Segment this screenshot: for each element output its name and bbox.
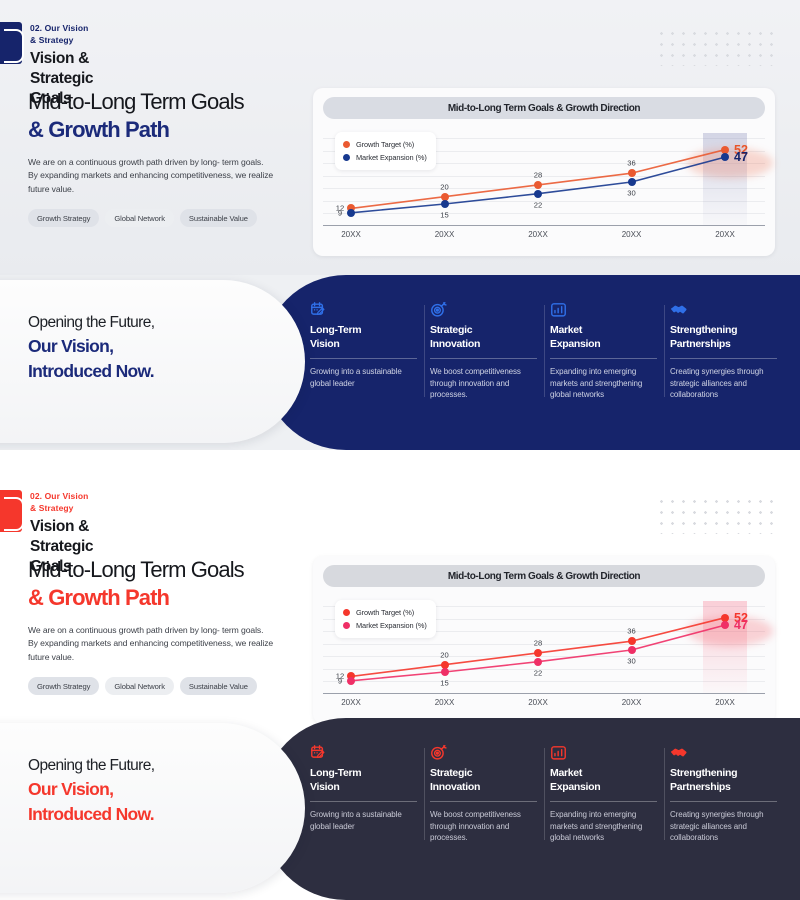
vision-headline-line1: Opening the Future, <box>28 312 154 334</box>
feature-card[interactable]: Long-Term VisionGrowing into a sustainab… <box>310 301 430 401</box>
feature-card-description: Expanding into emerging markets and stre… <box>550 809 657 844</box>
vision-headline-line3: Introduced Now. <box>28 359 154 384</box>
slide-navy: 02. Our Vision & Strategy Vision & Strat… <box>0 0 800 450</box>
header-accent-notch <box>4 497 24 531</box>
chart-point-label: 20 <box>440 182 448 191</box>
legend-label: Market Expansion (%) <box>356 153 427 162</box>
chart-data-point <box>347 209 355 217</box>
chart-x-label: 20XX <box>528 230 548 239</box>
vision-headline-group: Opening the Future, Our Vision, Introduc… <box>28 312 154 384</box>
chart-data-point <box>441 668 449 676</box>
chart-x-label: 20XX <box>435 230 455 239</box>
slide-navy-top-area: 02. Our Vision & Strategy Vision & Strat… <box>0 0 800 275</box>
chart-title: Mid-to-Long Term Goals & Growth Directio… <box>448 571 640 582</box>
feature-card-divider <box>550 801 657 802</box>
feature-card-list-navy: Long-Term VisionGrowing into a sustainab… <box>310 301 790 401</box>
header-kicker: 02. Our Vision & Strategy <box>30 490 93 514</box>
chart-x-label: 20XX <box>715 698 735 707</box>
dot-pattern-decoration <box>656 28 780 66</box>
tag-chip-sustainable-value[interactable]: Sustainable Value <box>180 677 257 695</box>
feature-card-title: Strategic Innovation <box>430 767 537 794</box>
calendar-edit-icon <box>310 744 417 761</box>
chart-data-point <box>441 200 449 208</box>
intro-column-navy: Mid-to-Long Term Goals & Growth Path We … <box>28 88 296 227</box>
feature-card-divider <box>670 358 777 359</box>
chart-x-tick-labels: 20XX20XX20XX20XX20XX <box>323 698 765 712</box>
intro-heading-line1: Mid-to-Long Term Goals <box>28 88 296 115</box>
chart-x-label: 20XX <box>622 698 642 707</box>
feature-card-description: Creating synergies through strategic all… <box>670 809 777 844</box>
chart-data-point <box>534 658 542 666</box>
feature-card-divider <box>550 358 657 359</box>
vision-panel-navy: Opening the Future, Our Vision, Introduc… <box>0 275 800 450</box>
feature-card-title: Market Expansion <box>550 324 657 351</box>
slide-red: 02. Our Vision & Strategy Vision & Strat… <box>0 468 800 900</box>
legend-dot-icon <box>343 154 350 161</box>
feature-card-divider <box>310 801 417 802</box>
chart-x-label: 20XX <box>341 698 361 707</box>
legend-dot-icon <box>343 141 350 148</box>
feature-card-title: Market Expansion <box>550 767 657 794</box>
feature-card[interactable]: Strengthening PartnershipsCreating syner… <box>670 744 790 844</box>
chart-data-point <box>628 637 636 645</box>
chart-x-label: 20XX <box>622 230 642 239</box>
target-icon <box>430 744 537 761</box>
chart-data-point <box>721 621 729 629</box>
feature-card[interactable]: Long-Term VisionGrowing into a sustainab… <box>310 744 430 844</box>
poster-page: 02. Our Vision & Strategy Vision & Strat… <box>0 0 800 900</box>
chart-point-label: 30 <box>627 189 635 198</box>
chart-end-label: 47 <box>734 150 748 164</box>
chart-point-label: 9 <box>338 676 342 685</box>
intro-body-text: We are on a continuous growth path drive… <box>28 156 296 196</box>
tag-chip-growth-strategy[interactable]: Growth Strategy <box>28 677 99 695</box>
feature-card[interactable]: Market ExpansionExpanding into emerging … <box>550 744 670 844</box>
chart-plot-area: 20XX20XX20XX20XX20XX Growth Target (%) M… <box>323 592 765 714</box>
chart-point-label: 28 <box>534 638 542 647</box>
vision-headline-line1: Opening the Future, <box>28 755 154 777</box>
header-accent-bar <box>0 22 22 64</box>
chart-point-label: 22 <box>534 668 542 677</box>
feature-card-title: Strengthening Partnerships <box>670 767 777 794</box>
chart-point-label: 15 <box>440 679 448 688</box>
feature-card-title: Long-Term Vision <box>310 767 417 794</box>
feature-card[interactable]: Strategic InnovationWe boost competitive… <box>430 744 550 844</box>
intro-column-red: Mid-to-Long Term Goals & Growth Path We … <box>28 556 296 695</box>
vision-headline-line2: Our Vision, <box>28 334 154 359</box>
chart-point-label: 15 <box>440 211 448 220</box>
target-icon <box>430 301 537 318</box>
legend-label: Market Expansion (%) <box>356 621 427 630</box>
calendar-edit-icon <box>310 301 417 318</box>
feature-card[interactable]: Market ExpansionExpanding into emerging … <box>550 301 670 401</box>
vision-white-panel: Opening the Future, Our Vision, Introduc… <box>0 723 305 893</box>
chart-plot-area: 20XX20XX20XX20XX20XX Growth Target (%) M… <box>323 124 765 246</box>
chart-x-tick-labels: 20XX20XX20XX20XX20XX <box>323 230 765 244</box>
bar-chart-icon <box>550 744 657 761</box>
chart-point-label: 30 <box>627 657 635 666</box>
chart-x-axis <box>323 693 765 694</box>
chart-point-label: 36 <box>627 159 635 168</box>
legend-item-growth-target: Growth Target (%) <box>343 606 427 619</box>
vision-headline-line2: Our Vision, <box>28 777 154 802</box>
chart-point-label: 22 <box>534 200 542 209</box>
header-accent-bar <box>0 490 22 532</box>
chart-data-point <box>721 153 729 161</box>
chart-data-point <box>628 178 636 186</box>
tag-chip-sustainable-value[interactable]: Sustainable Value <box>180 209 257 227</box>
legend-dot-icon <box>343 609 350 616</box>
chart-end-label: 47 <box>734 618 748 632</box>
vision-panel-red: Opening the Future, Our Vision, Introduc… <box>0 718 800 900</box>
feature-card-divider <box>310 358 417 359</box>
feature-card[interactable]: Strengthening PartnershipsCreating syner… <box>670 301 790 401</box>
chart-card-navy: Mid-to-Long Term Goals & Growth Directio… <box>313 88 775 256</box>
tag-chip-growth-strategy[interactable]: Growth Strategy <box>28 209 99 227</box>
feature-card-list-red: Long-Term VisionGrowing into a sustainab… <box>310 744 790 844</box>
chart-point-label: 20 <box>440 650 448 659</box>
vision-white-panel: Opening the Future, Our Vision, Introduc… <box>0 280 305 443</box>
chart-point-label: 36 <box>627 627 635 636</box>
chart-point-label: 28 <box>534 170 542 179</box>
tag-chip-global-network[interactable]: Global Network <box>105 677 174 695</box>
tag-chip-list: Growth Strategy Global Network Sustainab… <box>28 209 296 227</box>
chart-x-label: 20XX <box>341 230 361 239</box>
feature-card-description: Expanding into emerging markets and stre… <box>550 366 657 401</box>
feature-card-divider <box>430 358 537 359</box>
feature-card-description: Growing into a sustainable global leader <box>310 366 417 389</box>
vision-headline-line3: Introduced Now. <box>28 802 154 827</box>
feature-card-title: Strengthening Partnerships <box>670 324 777 351</box>
feature-card-description: We boost competitiveness through innovat… <box>430 366 537 401</box>
bar-chart-icon <box>550 301 657 318</box>
chart-x-axis <box>323 225 765 226</box>
vision-headline-group: Opening the Future, Our Vision, Introduc… <box>28 755 154 827</box>
feature-card-description: Growing into a sustainable global leader <box>310 809 417 832</box>
legend-item-growth-target: Growth Target (%) <box>343 138 427 151</box>
chart-data-point <box>534 190 542 198</box>
chart-card-red: Mid-to-Long Term Goals & Growth Directio… <box>313 556 775 724</box>
chart-data-point <box>628 646 636 654</box>
legend-label: Growth Target (%) <box>356 140 414 149</box>
chart-title-banner: Mid-to-Long Term Goals & Growth Directio… <box>323 565 765 587</box>
chart-x-label: 20XX <box>715 230 735 239</box>
chart-point-label: 9 <box>338 208 342 217</box>
chart-x-label: 20XX <box>528 698 548 707</box>
chart-title-banner: Mid-to-Long Term Goals & Growth Directio… <box>323 97 765 119</box>
header-kicker: 02. Our Vision & Strategy <box>30 22 93 46</box>
chart-title: Mid-to-Long Term Goals & Growth Directio… <box>448 103 640 114</box>
intro-heading-line2: & Growth Path <box>28 583 296 612</box>
tag-chip-list: Growth Strategy Global Network Sustainab… <box>28 677 296 695</box>
handshake-icon <box>670 301 777 318</box>
feature-card-title: Long-Term Vision <box>310 324 417 351</box>
tag-chip-global-network[interactable]: Global Network <box>105 209 174 227</box>
feature-card-divider <box>430 801 537 802</box>
chart-data-point <box>628 169 636 177</box>
feature-card-description: We boost competitiveness through innovat… <box>430 809 537 844</box>
legend-item-market-expansion: Market Expansion (%) <box>343 619 427 632</box>
feature-card-description: Creating synergies through strategic all… <box>670 366 777 401</box>
chart-legend: Growth Target (%) Market Expansion (%) <box>335 132 436 170</box>
chart-data-point <box>347 677 355 685</box>
legend-item-market-expansion: Market Expansion (%) <box>343 151 427 164</box>
header-accent-notch <box>4 29 24 63</box>
slide-red-top-area: 02. Our Vision & Strategy Vision & Strat… <box>0 468 800 718</box>
dot-pattern-decoration <box>656 496 780 534</box>
chart-legend: Growth Target (%) Market Expansion (%) <box>335 600 436 638</box>
chart-data-point <box>534 649 542 657</box>
intro-heading-line2: & Growth Path <box>28 115 296 144</box>
feature-card[interactable]: Strategic InnovationWe boost competitive… <box>430 301 550 401</box>
intro-body-text: We are on a continuous growth path drive… <box>28 624 296 664</box>
feature-card-title: Strategic Innovation <box>430 324 537 351</box>
chart-data-point <box>534 181 542 189</box>
legend-label: Growth Target (%) <box>356 608 414 617</box>
handshake-icon <box>670 744 777 761</box>
chart-x-label: 20XX <box>435 698 455 707</box>
legend-dot-icon <box>343 622 350 629</box>
intro-heading-line1: Mid-to-Long Term Goals <box>28 556 296 583</box>
feature-card-divider <box>670 801 777 802</box>
